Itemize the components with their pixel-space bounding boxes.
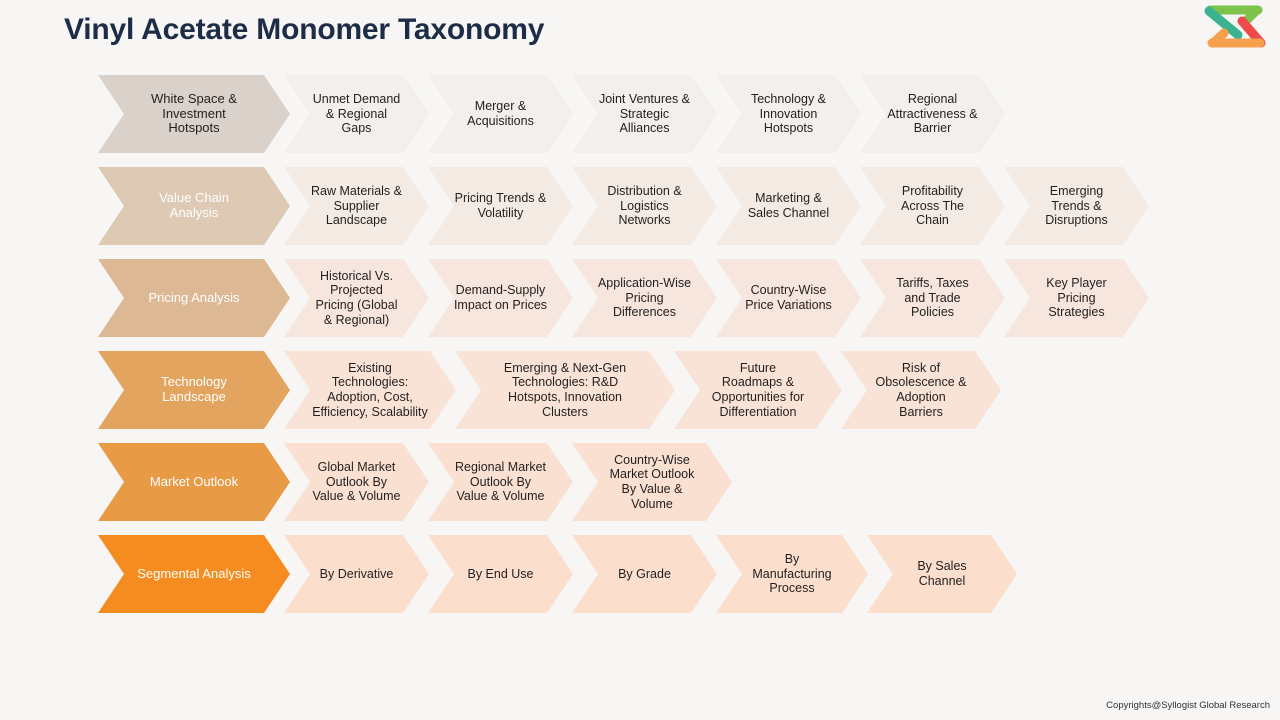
taxonomy-cell-chevron[interactable]: Existing Technologies: Adoption, Cost, E… — [284, 351, 456, 429]
taxonomy-cell-label: Unmet Demand & Regional Gaps — [305, 92, 409, 136]
row-head-label: Value Chain Analysis — [151, 191, 237, 220]
taxonomy-cell-label: Existing Technologies: Adoption, Cost, E… — [304, 361, 436, 419]
taxonomy-cell-label: Joint Ventures & Strategic Alliances — [591, 92, 698, 136]
taxonomy-cell-chevron[interactable]: Regional Market Outlook By Value & Volum… — [428, 443, 573, 521]
row-head-chevron[interactable]: Market Outlook — [98, 443, 290, 521]
taxonomy-cell-label: Technology & Innovation Hotspots — [743, 92, 834, 136]
taxonomy-cell-label: Regional Market Outlook By Value & Volum… — [447, 460, 554, 504]
taxonomy-cell-label: Demand-Supply Impact on Prices — [446, 283, 555, 312]
taxonomy-cell-chevron[interactable]: Joint Ventures & Strategic Alliances — [572, 75, 717, 153]
row-head-chevron[interactable]: Value Chain Analysis — [98, 167, 290, 245]
taxonomy-rows: White Space & Investment HotspotsUnmet D… — [0, 75, 1280, 627]
taxonomy-cell-label: Raw Materials & Supplier Landscape — [303, 184, 410, 228]
slide-canvas: Vinyl Acetate Monomer Taxonomy White Spa… — [0, 0, 1280, 720]
taxonomy-cell-chevron[interactable]: Key Player Pricing Strategies — [1004, 259, 1149, 337]
taxonomy-cell-label: Profitability Across The Chain — [893, 184, 972, 228]
taxonomy-cell-chevron[interactable]: Pricing Trends & Volatility — [428, 167, 573, 245]
taxonomy-cell-label: Country-Wise Market Outlook By Value & V… — [602, 453, 703, 511]
taxonomy-cell-label: Risk of Obsolescence & Adoption Barriers — [867, 361, 974, 419]
taxonomy-cell-chevron[interactable]: Country-Wise Market Outlook By Value & V… — [572, 443, 732, 521]
taxonomy-cell-chevron[interactable]: Marketing & Sales Channel — [716, 167, 861, 245]
syllogist-logo — [1198, 2, 1272, 52]
taxonomy-cell-chevron[interactable]: Global Market Outlook By Value & Volume — [284, 443, 429, 521]
taxonomy-cell-chevron[interactable]: By End Use — [428, 535, 573, 613]
taxonomy-cell-label: By Sales Channel — [909, 559, 974, 588]
taxonomy-cell-label: Emerging & Next-Gen Technologies: R&D Ho… — [496, 361, 634, 419]
taxonomy-cell-label: Merger & Acquisitions — [459, 99, 542, 128]
taxonomy-cell-label: By Manufacturing Process — [744, 552, 839, 596]
taxonomy-cell-label: By Derivative — [312, 567, 402, 582]
row-head-label: White Space & Investment Hotspots — [143, 92, 245, 136]
taxonomy-cell-chevron[interactable]: Raw Materials & Supplier Landscape — [284, 167, 429, 245]
taxonomy-cell-label: By End Use — [459, 567, 541, 582]
taxonomy-cell-chevron[interactable]: Unmet Demand & Regional Gaps — [284, 75, 429, 153]
taxonomy-cell-chevron[interactable]: Technology & Innovation Hotspots — [716, 75, 861, 153]
taxonomy-cell-chevron[interactable]: Application-Wise Pricing Differences — [572, 259, 717, 337]
taxonomy-cell-chevron[interactable]: By Sales Channel — [867, 535, 1017, 613]
taxonomy-cell-chevron[interactable]: By Manufacturing Process — [716, 535, 868, 613]
taxonomy-cell-chevron[interactable]: Emerging Trends & Disruptions — [1004, 167, 1149, 245]
taxonomy-cell-chevron[interactable]: Tariffs, Taxes and Trade Policies — [860, 259, 1005, 337]
taxonomy-cell-label: Future Roadmaps & Opportunities for Diff… — [704, 361, 812, 419]
taxonomy-cell-chevron[interactable]: Risk of Obsolescence & Adoption Barriers — [841, 351, 1001, 429]
taxonomy-cell-label: Tariffs, Taxes and Trade Policies — [888, 276, 977, 320]
taxonomy-cell-label: Marketing & Sales Channel — [740, 191, 837, 220]
taxonomy-cell-label: Country-Wise Price Variations — [737, 283, 840, 312]
taxonomy-cell-label: Regional Attractiveness & Barrier — [879, 92, 985, 136]
taxonomy-cell-label: Historical Vs. Projected Pricing (Global… — [308, 269, 406, 327]
taxonomy-cell-chevron[interactable]: By Derivative — [284, 535, 429, 613]
taxonomy-cell-chevron[interactable]: Demand-Supply Impact on Prices — [428, 259, 573, 337]
taxonomy-cell-label: Global Market Outlook By Value & Volume — [304, 460, 408, 504]
taxonomy-cell-chevron[interactable]: Merger & Acquisitions — [428, 75, 573, 153]
taxonomy-row: Technology LandscapeExisting Technologie… — [0, 351, 1280, 429]
taxonomy-cell-label: Pricing Trends & Volatility — [447, 191, 555, 220]
taxonomy-cell-chevron[interactable]: Regional Attractiveness & Barrier — [860, 75, 1005, 153]
taxonomy-row: Pricing AnalysisHistorical Vs. Projected… — [0, 259, 1280, 337]
row-head-chevron[interactable]: Pricing Analysis — [98, 259, 290, 337]
taxonomy-row: Segmental AnalysisBy DerivativeBy End Us… — [0, 535, 1280, 613]
taxonomy-row: Market OutlookGlobal Market Outlook By V… — [0, 443, 1280, 521]
taxonomy-cell-chevron[interactable]: By Grade — [572, 535, 717, 613]
row-head-label: Technology Landscape — [153, 375, 235, 404]
taxonomy-cell-chevron[interactable]: Profitability Across The Chain — [860, 167, 1005, 245]
taxonomy-cell-chevron[interactable]: Distribution & Logistics Networks — [572, 167, 717, 245]
row-head-chevron[interactable]: Technology Landscape — [98, 351, 290, 429]
taxonomy-cell-label: Key Player Pricing Strategies — [1038, 276, 1114, 320]
taxonomy-cell-label: Emerging Trends & Disruptions — [1037, 184, 1116, 228]
taxonomy-cell-chevron[interactable]: Country-Wise Price Variations — [716, 259, 861, 337]
row-head-label: Market Outlook — [142, 475, 246, 490]
row-head-label: Pricing Analysis — [140, 291, 247, 306]
row-head-chevron[interactable]: White Space & Investment Hotspots — [98, 75, 290, 153]
taxonomy-cell-chevron[interactable]: Emerging & Next-Gen Technologies: R&D Ho… — [455, 351, 675, 429]
taxonomy-cell-label: Application-Wise Pricing Differences — [590, 276, 699, 320]
taxonomy-cell-label: Distribution & Logistics Networks — [599, 184, 689, 228]
copyright-text: Copyrights@Syllogist Global Research — [1106, 700, 1270, 711]
row-head-label: Segmental Analysis — [129, 567, 258, 582]
page-title: Vinyl Acetate Monomer Taxonomy — [64, 13, 544, 47]
row-head-chevron[interactable]: Segmental Analysis — [98, 535, 290, 613]
taxonomy-cell-chevron[interactable]: Future Roadmaps & Opportunities for Diff… — [674, 351, 842, 429]
taxonomy-cell-chevron[interactable]: Historical Vs. Projected Pricing (Global… — [284, 259, 429, 337]
taxonomy-cell-label: By Grade — [610, 567, 679, 582]
taxonomy-row: Value Chain AnalysisRaw Materials & Supp… — [0, 167, 1280, 245]
taxonomy-row: White Space & Investment HotspotsUnmet D… — [0, 75, 1280, 153]
